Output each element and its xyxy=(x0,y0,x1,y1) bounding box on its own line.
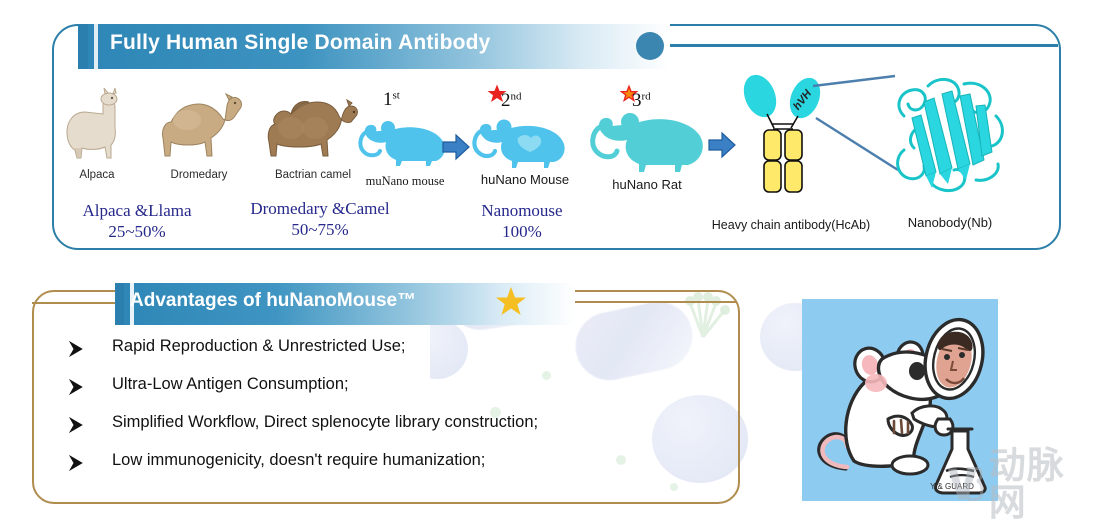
list-item: Low immunogenicity, doesn't require huma… xyxy=(68,451,688,489)
header-accent-tab xyxy=(78,24,88,69)
star-icon-gold xyxy=(495,286,527,318)
advantages-accent-tab xyxy=(115,283,124,325)
step-suffix: rd xyxy=(642,91,651,103)
step-caption-2: huNano Mouse xyxy=(470,172,580,187)
list-item: Rapid Reproduction & Unrestricted Use; xyxy=(68,337,688,375)
animal-label: Dromedary xyxy=(138,169,260,181)
nanobody-caption: Nanobody(Nb) xyxy=(880,215,1020,230)
step-suffix: st xyxy=(393,90,400,102)
animal-dromedary: Dromedary xyxy=(138,88,260,181)
hunano-mouse-icon xyxy=(472,116,570,170)
note-title: Alpaca &Llama xyxy=(42,200,232,221)
watermark: 动脉网 xyxy=(945,456,1099,512)
process-arrow-icon xyxy=(441,133,471,161)
alpaca-icon xyxy=(55,88,139,162)
note-value: 100% xyxy=(438,221,606,242)
header-connector-line xyxy=(660,44,1058,47)
advantages-header-title: Advantages of huNanoMouse™ xyxy=(130,290,416,312)
note-dromedary-camel: Dromedary &Camel 50~75% xyxy=(222,198,418,240)
advantage-text: Low immunogenicity, doesn't require huma… xyxy=(112,451,485,470)
note-title: Dromedary &Camel xyxy=(222,198,418,219)
note-value: 50~75% xyxy=(222,219,418,240)
advantage-text: Simplified Workflow, Direct splenocyte l… xyxy=(112,413,538,432)
step-number: 2 xyxy=(501,90,511,111)
step-suffix: nd xyxy=(511,91,522,103)
header-dot-marker xyxy=(636,32,664,60)
list-item: Simplified Workflow, Direct splenocyte l… xyxy=(68,413,688,451)
step-number: 1 xyxy=(383,89,393,110)
animal-alpaca: Alpaca xyxy=(42,88,152,181)
watermark-logo-icon xyxy=(945,464,984,504)
bactrian-camel-icon xyxy=(257,88,369,162)
munano-mouse-icon xyxy=(358,118,450,168)
dromedary-icon xyxy=(147,88,251,162)
note-title: Nanomouse xyxy=(438,200,606,221)
chevron-right-icon xyxy=(68,341,84,357)
advantage-text: Ultra-Low Antigen Consumption; xyxy=(112,375,349,394)
step-ordinal-1: 1st xyxy=(383,89,400,111)
header-accent-stripe xyxy=(94,24,98,69)
camelid-group: Alpaca Dromedary xyxy=(40,88,370,188)
note-nanomouse: Nanomouse 100% xyxy=(438,200,606,242)
vhh-domain-left xyxy=(738,72,782,122)
advantages-line-left xyxy=(32,302,116,304)
note-alpaca-llama: Alpaca &Llama 25~50% xyxy=(42,200,232,242)
step-ordinal-2: 2nd xyxy=(501,90,522,112)
animal-label: Alpaca xyxy=(42,169,152,181)
step-caption-3: huNano Rat xyxy=(588,177,706,192)
hcab-caption: Heavy chain antibody(HcAb) xyxy=(698,218,884,232)
slide-canvas: Fully Human Single Domain Antibody Alpac… xyxy=(0,0,1099,517)
advantages-list: Rapid Reproduction & Unrestricted Use; U… xyxy=(68,337,688,489)
chevron-right-icon xyxy=(68,417,84,433)
chevron-right-icon xyxy=(68,379,84,395)
list-item: Ultra-Low Antigen Consumption; xyxy=(68,375,688,413)
advantage-text: Rapid Reproduction & Unrestricted Use; xyxy=(112,337,405,356)
top-header-title: Fully Human Single Domain Antibody xyxy=(110,31,491,55)
nanobody-ribbon-diagram xyxy=(888,72,1012,198)
chevron-right-icon xyxy=(68,455,84,471)
hunano-rat-icon xyxy=(590,108,708,174)
note-value: 25~50% xyxy=(42,221,232,242)
step-caption-1: muNano mouse xyxy=(355,174,455,189)
process-arrow-icon-2 xyxy=(707,131,737,159)
watermark-text: 动脉网 xyxy=(989,447,1099,521)
